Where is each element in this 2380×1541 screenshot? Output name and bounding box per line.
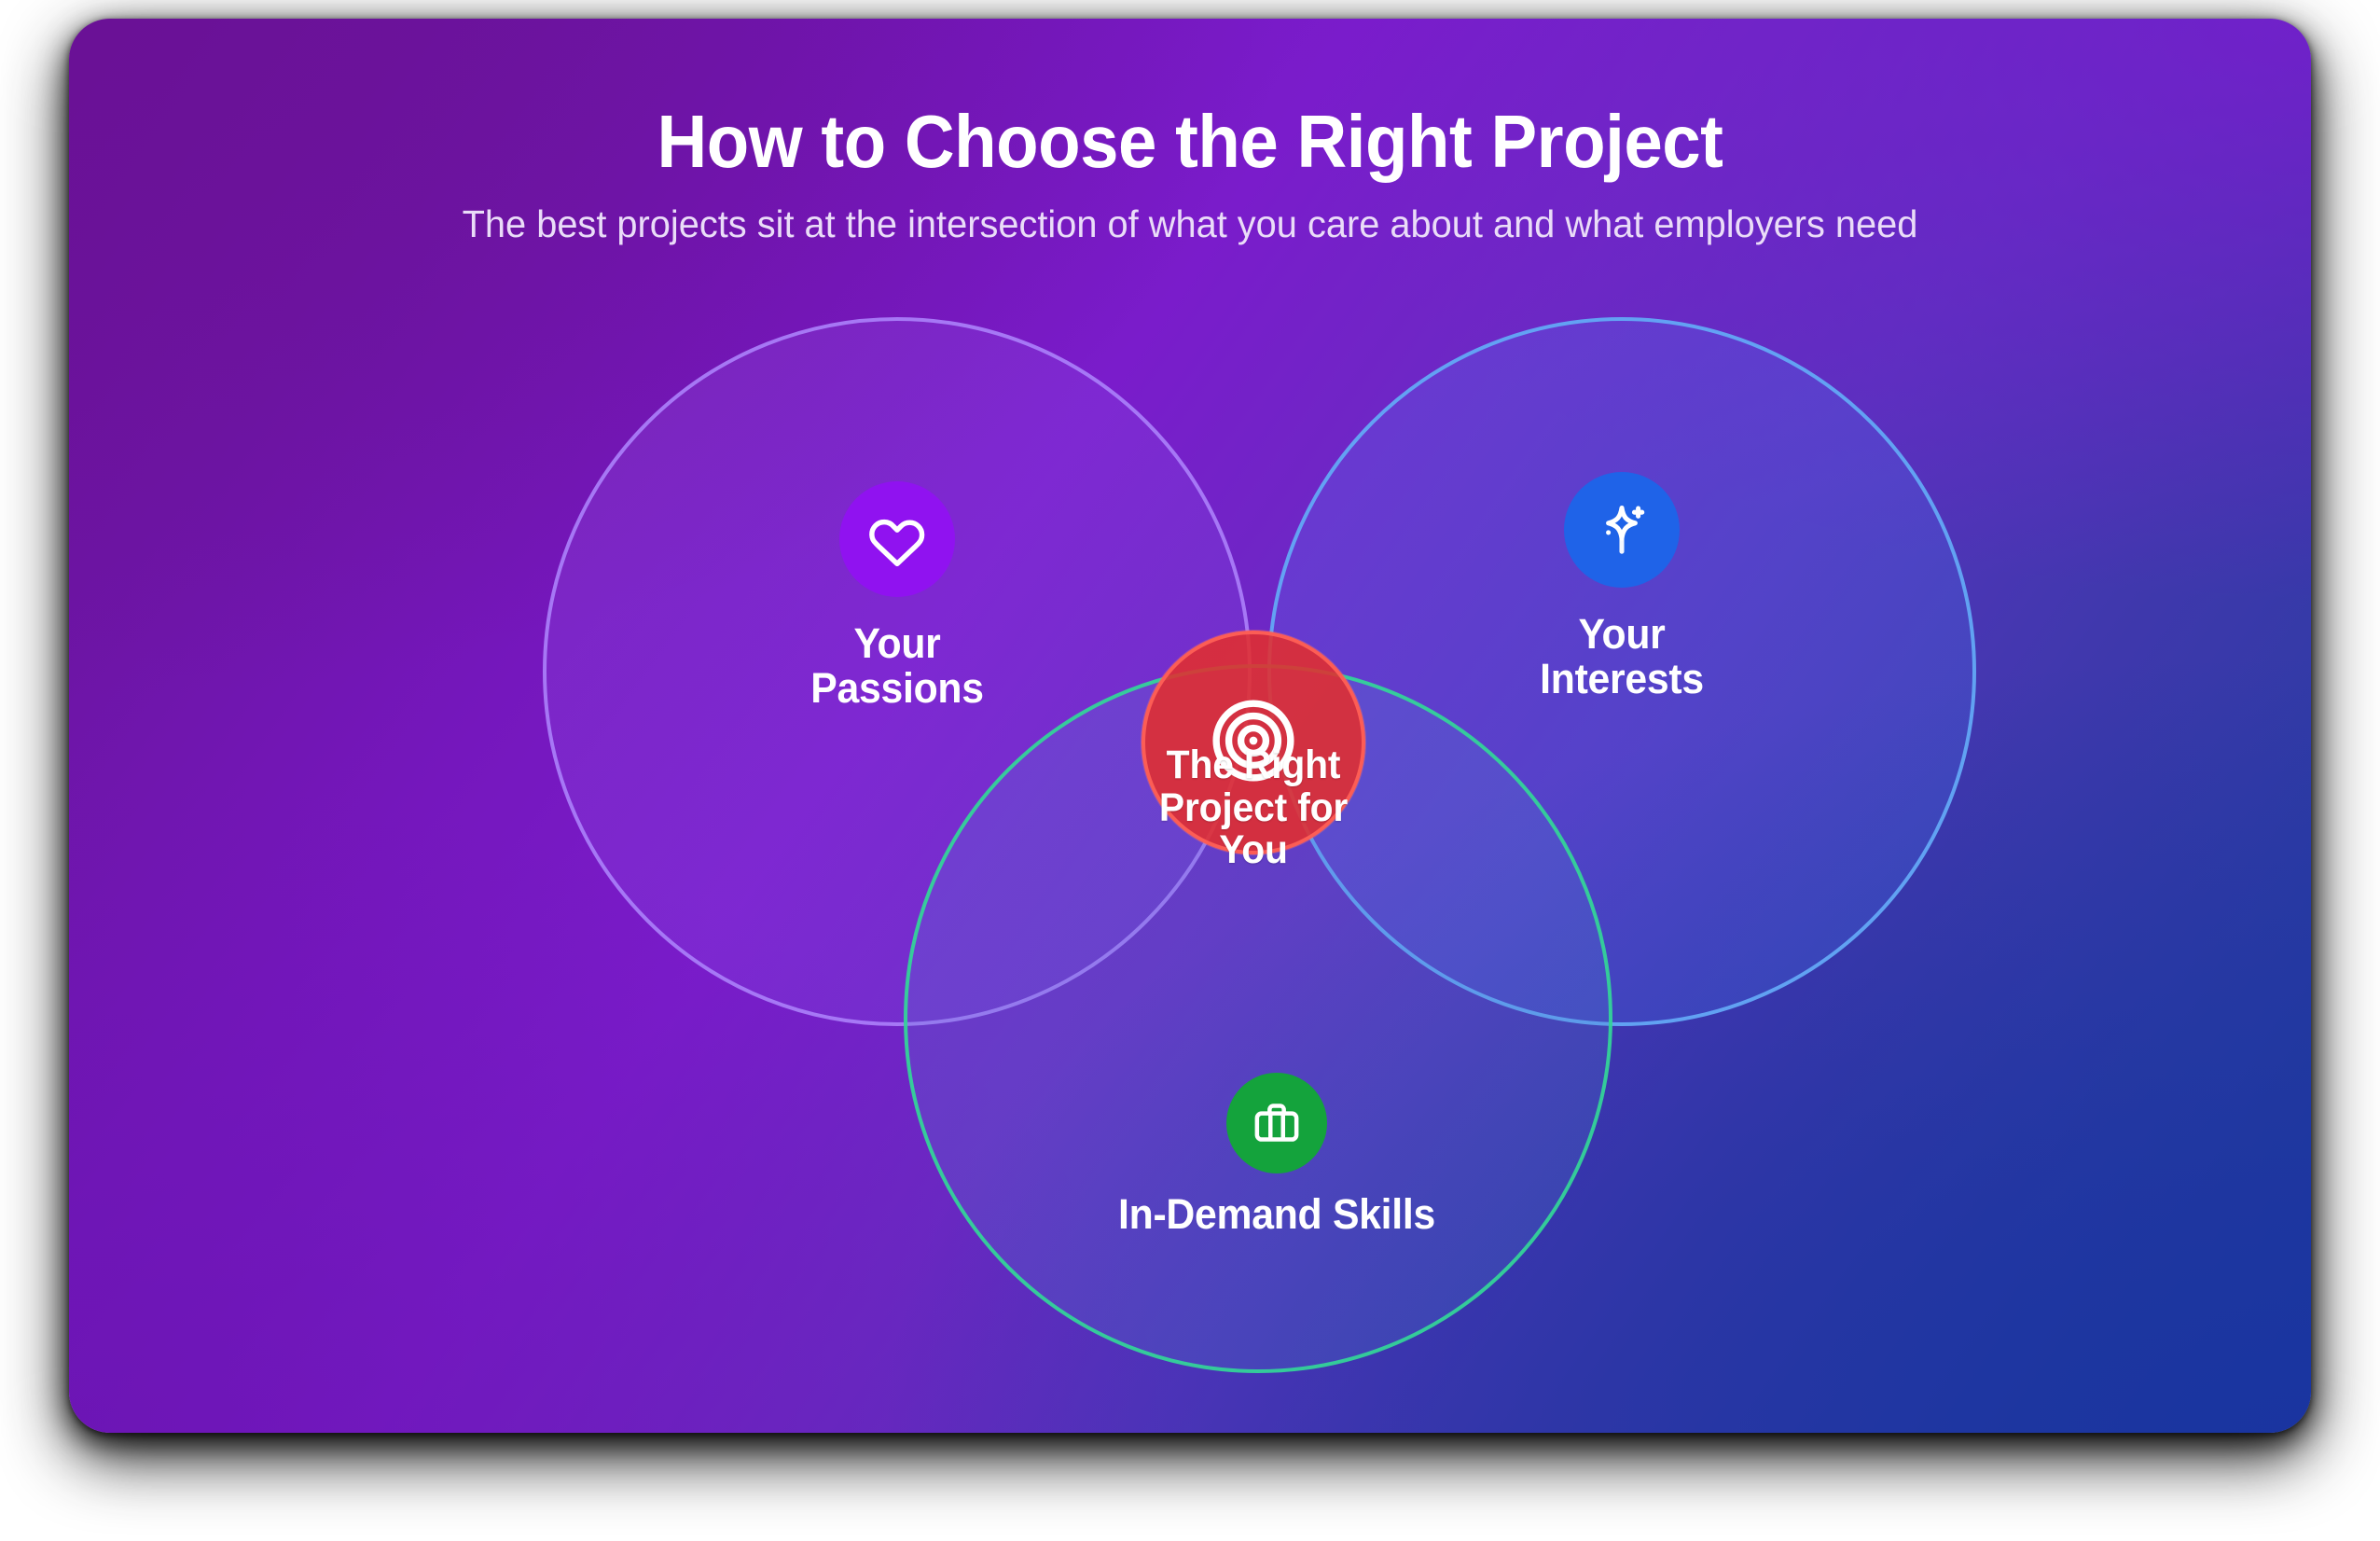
heart-badge — [839, 481, 955, 597]
heart-icon — [868, 510, 926, 568]
venn-node-passions-label: Your Passions — [694, 621, 1101, 710]
venn-node-skills[interactable]: In-Demand Skills — [1062, 1073, 1491, 1237]
page-subtitle: The best projects sit at the intersectio… — [103, 203, 2277, 245]
venn-node-interests[interactable]: Your Interests — [1407, 472, 1836, 701]
briefcase-badge — [1226, 1073, 1327, 1173]
header-block: How to Choose the Right Project The best… — [69, 104, 2311, 245]
venn-node-center[interactable]: The Right Project for You — [1058, 631, 1449, 872]
venn-node-center-label: The Right Project for You — [1068, 744, 1440, 872]
sparkle-icon — [1592, 500, 1652, 560]
venn-node-skills-label: In-Demand Skills — [1073, 1192, 1481, 1237]
sparkle-badge — [1564, 472, 1680, 588]
venn-node-passions[interactable]: Your Passions — [683, 481, 1112, 710]
venn-node-interests-label: Your Interests — [1418, 612, 1826, 701]
infographic-card: How to Choose the Right Project The best… — [69, 19, 2311, 1433]
page-title: How to Choose the Right Project — [147, 104, 2233, 179]
briefcase-icon — [1252, 1098, 1302, 1148]
screenshot-stage: How to Choose the Right Project The best… — [0, 0, 2380, 1541]
